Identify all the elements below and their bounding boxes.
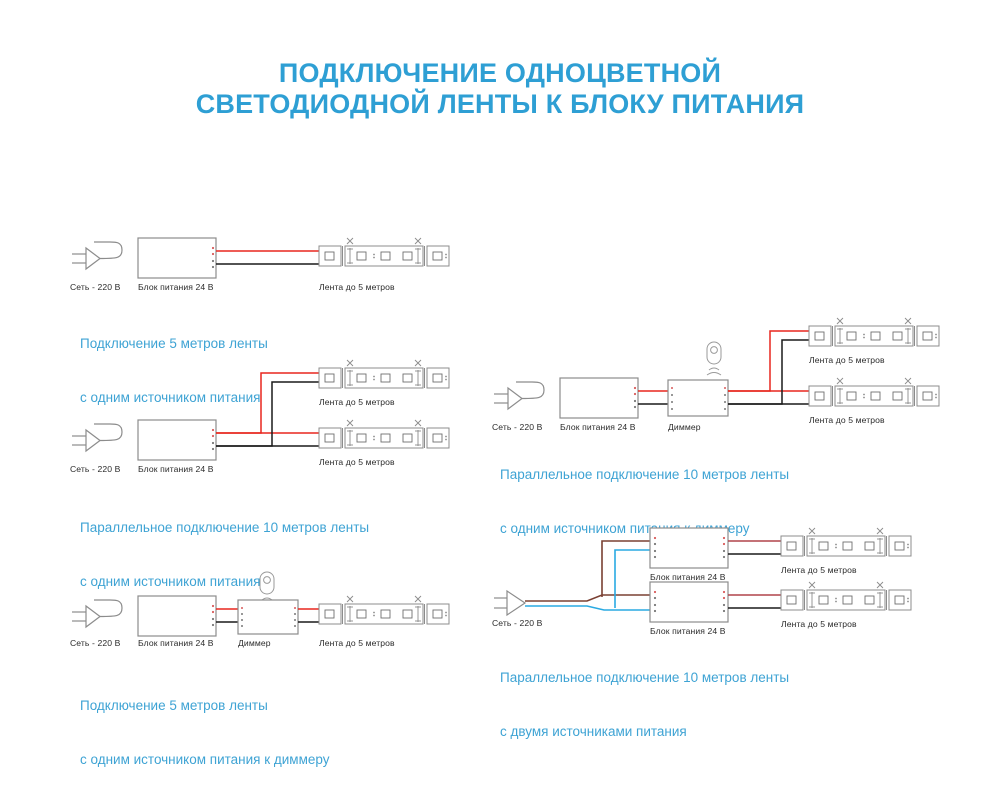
caption-2-line-1: Параллельное подключение 10 метров ленты [80,519,369,537]
strip-label: Лента до 5 метров [319,282,395,292]
caption-diagram-3: Подключение 5 метров ленты с одним источ… [80,661,329,805]
wire-negative-branch-up [728,340,810,404]
mains-label: Сеть - 220 В [70,638,120,648]
caption-diagram-5: Параллельное подключение 10 метров ленты… [500,633,789,777]
page-title-line-2: СВЕТОДИОДНОЙ ЛЕНТЫ К БЛОКУ ПИТАНИЯ [0,89,1000,120]
psu-label: Блок питания 24 В [138,638,214,648]
led-strip [319,360,449,388]
strip-label: Лента до 5 метров [319,397,395,407]
diagram-1-canvas [70,230,490,290]
power-supply-unit [138,420,216,460]
psu-label: Блок питания 24 В [138,282,214,292]
power-supply-unit [138,238,216,278]
caption-4-line-1: Параллельное подключение 10 метров ленты [500,466,789,484]
psu-label: Блок питания 24 В [138,464,214,474]
caption-1-line-1: Подключение 5 метров ленты [80,335,268,353]
strip-label: Лента до 5 метров [319,638,395,648]
strip-label: Лента до 5 метров [319,457,395,467]
mains-label: Сеть - 220 В [70,282,120,292]
diagram-page: ПОДКЛЮЧЕНИЕ ОДНОЦВЕТНОЙ СВЕТОДИОДНОЙ ЛЕН… [0,0,1000,800]
strip-label: Лента до 5 метров [809,415,885,425]
wire-negative-branch-up [216,382,320,446]
caption-3-line-1: Подключение 5 метров ленты [80,697,329,715]
dimmer-label: Диммер [238,638,271,648]
psu-label: Блок питания 24 В [650,572,726,582]
power-supply-unit [138,596,216,636]
led-strip [781,582,911,610]
strip-label: Лента до 5 метров [809,355,885,365]
wire-live-brown-lower [525,595,650,601]
led-strip [809,378,939,406]
power-supply-unit [650,528,728,568]
diagram-single-strip-one-psu: Сеть - 220 В Блок питания 24 В Лента до … [70,230,490,290]
led-strip [319,420,449,448]
dimmer-unit [668,380,728,416]
mains-plug-icon [72,242,122,269]
mains-plug-icon [494,591,525,615]
power-supply-unit [650,582,728,622]
remote-control-icon [707,342,721,375]
mains-plug-icon [72,600,122,627]
mains-plug-icon [72,424,122,451]
diagram-parallel-two-strips-two-psu: Лента до 5 метров Блок питания 24 В Сеть… [492,520,952,640]
diagram-parallel-two-strips-dimmer: Лента до 5 метров Сеть - 220 В Блок пита… [492,318,952,433]
led-strip [319,238,449,266]
power-supply-unit [560,378,638,418]
strip-label: Лента до 5 метров [781,565,857,575]
led-strip [319,596,449,624]
mains-label: Сеть - 220 В [492,618,542,628]
caption-5-line-1: Параллельное подключение 10 метров ленты [500,669,789,687]
diagram-parallel-two-strips-one-psu: Лента до 5 метров Сеть - 220 В Блок пита… [70,360,490,475]
dimmer-unit [238,600,298,634]
strip-label: Лента до 5 метров [781,619,857,629]
mains-label: Сеть - 220 В [70,464,120,474]
diagram-2-canvas [70,360,490,475]
wire-neutral-blue-lower [525,606,650,610]
caption-3-line-2: с одним источником питания к диммеру [80,751,329,769]
caption-5-line-2: с двумя источниками питания [500,723,789,741]
led-strip [809,318,939,346]
led-strip [781,528,911,556]
diagram-single-strip-dimmer: Сеть - 220 В Блок питания 24 В Диммер Ле… [70,570,490,645]
mains-plug-icon [494,382,544,409]
wire-neutral-blue-up [615,550,650,608]
diagram-3-canvas [70,570,490,645]
page-title: ПОДКЛЮЧЕНИЕ ОДНОЦВЕТНОЙ СВЕТОДИОДНОЙ ЛЕН… [0,58,1000,120]
page-title-line-1: ПОДКЛЮЧЕНИЕ ОДНОЦВЕТНОЙ [0,58,1000,89]
